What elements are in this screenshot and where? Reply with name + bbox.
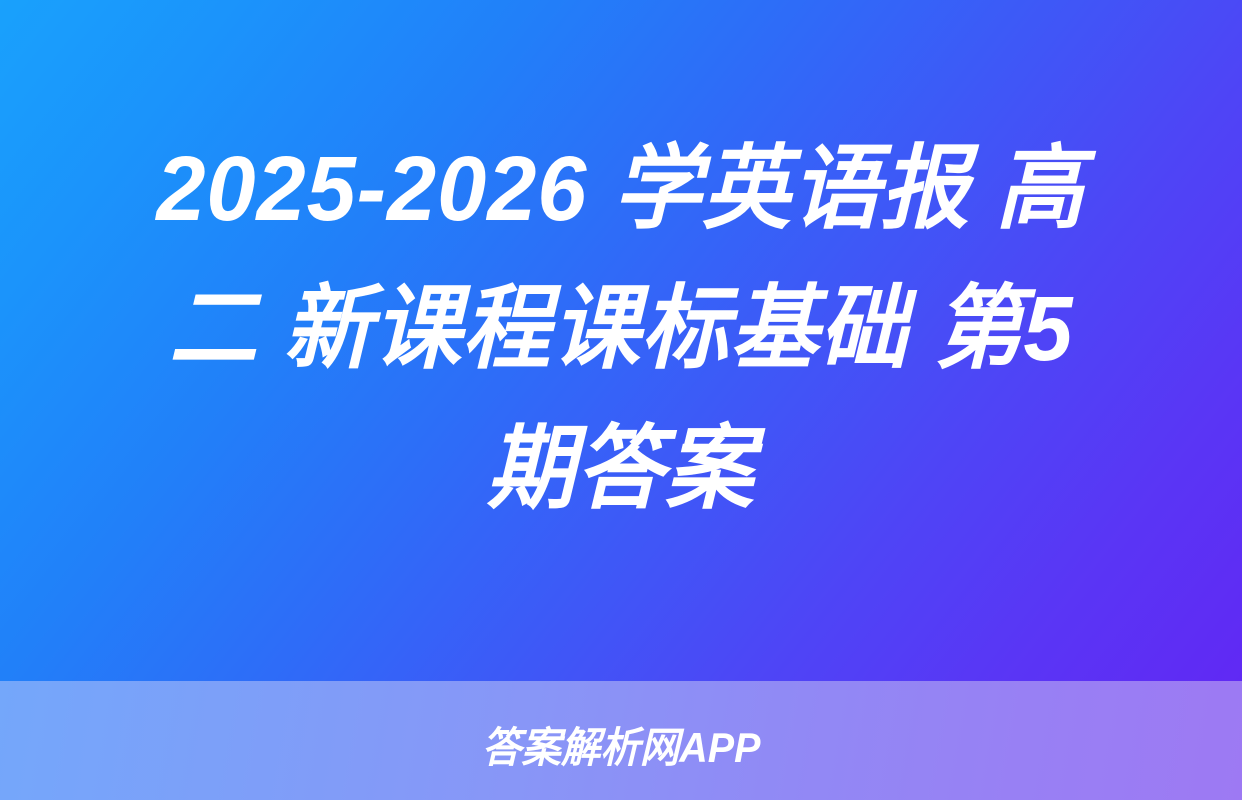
headline-line-1: 2025-2026 学英语报 高 bbox=[157, 119, 1085, 259]
footer-band: 答案解析网APP bbox=[0, 681, 1242, 800]
app-brand-label: 答案解析网APP bbox=[482, 724, 761, 772]
poster-root: 2025-2026 学英语报 高 二 新课程课标基础 第5 期答案 答案解析网A… bbox=[0, 0, 1242, 800]
headline-block: 2025-2026 学英语报 高 二 新课程课标基础 第5 期答案 bbox=[0, 0, 1242, 681]
headline-line-2: 二 新课程课标基础 第5 bbox=[169, 259, 1074, 399]
headline-line-3: 期答案 bbox=[487, 399, 755, 539]
